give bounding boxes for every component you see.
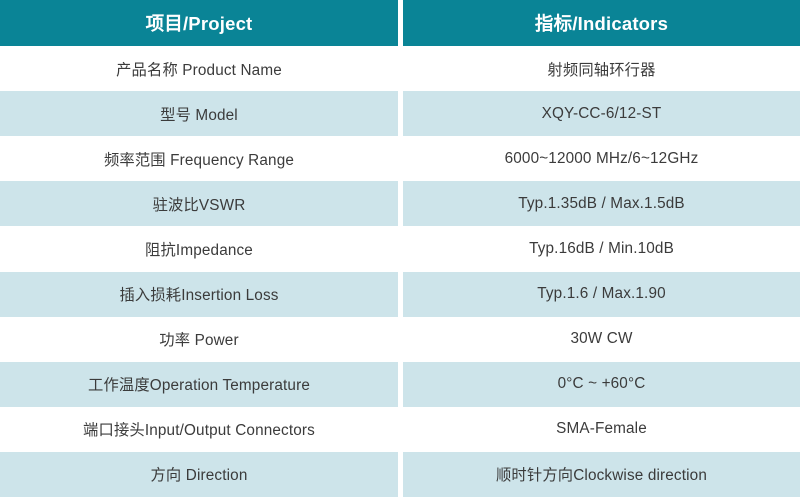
row-item-label: 产品名称 Product Name [0, 46, 398, 91]
specification-table: 项目/Project 指标/Indicators 产品名称 Product Na… [0, 0, 800, 497]
row-item-label: 插入损耗Insertion Loss [0, 272, 398, 317]
row-item-value: Typ.1.6 / Max.1.90 [403, 272, 800, 317]
table-row: 驻波比VSWR Typ.1.35dB / Max.1.5dB [0, 181, 800, 226]
column-header-indicators: 指标/Indicators [403, 0, 800, 46]
row-item-value: 射频同轴环行器 [403, 46, 800, 91]
table-row: 产品名称 Product Name 射频同轴环行器 [0, 46, 800, 91]
row-item-label: 功率 Power [0, 317, 398, 362]
row-item-label: 驻波比VSWR [0, 181, 398, 226]
row-item-label: 型号 Model [0, 91, 398, 136]
row-item-value: XQY-CC-6/12-ST [403, 91, 800, 136]
table-row: 功率 Power 30W CW [0, 317, 800, 362]
table-row: 型号 Model XQY-CC-6/12-ST [0, 91, 800, 136]
row-item-value: 6000~12000 MHz/6~12GHz [403, 136, 800, 181]
row-item-value: 顺时针方向Clockwise direction [403, 452, 800, 497]
row-item-label: 频率范围 Frequency Range [0, 136, 398, 181]
table-row: 端口接头Input/Output Connectors SMA-Female [0, 407, 800, 452]
row-item-label: 工作温度Operation Temperature [0, 362, 398, 407]
column-header-project: 项目/Project [0, 0, 398, 46]
table-row: 方向 Direction 顺时针方向Clockwise direction [0, 452, 800, 497]
table-row: 阻抗Impedance Typ.16dB / Min.10dB [0, 226, 800, 271]
row-item-label: 方向 Direction [0, 452, 398, 497]
table-header-row: 项目/Project 指标/Indicators [0, 0, 800, 46]
row-item-label: 阻抗Impedance [0, 226, 398, 271]
table-row: 插入损耗Insertion Loss Typ.1.6 / Max.1.90 [0, 272, 800, 317]
row-item-value: 30W CW [403, 317, 800, 362]
row-item-value: Typ.16dB / Min.10dB [403, 226, 800, 271]
table-row: 工作温度Operation Temperature 0°C ~ +60°C [0, 362, 800, 407]
row-item-value: 0°C ~ +60°C [403, 362, 800, 407]
table-row: 频率范围 Frequency Range 6000~12000 MHz/6~12… [0, 136, 800, 181]
row-item-label: 端口接头Input/Output Connectors [0, 407, 398, 452]
row-item-value: Typ.1.35dB / Max.1.5dB [403, 181, 800, 226]
row-item-value: SMA-Female [403, 407, 800, 452]
